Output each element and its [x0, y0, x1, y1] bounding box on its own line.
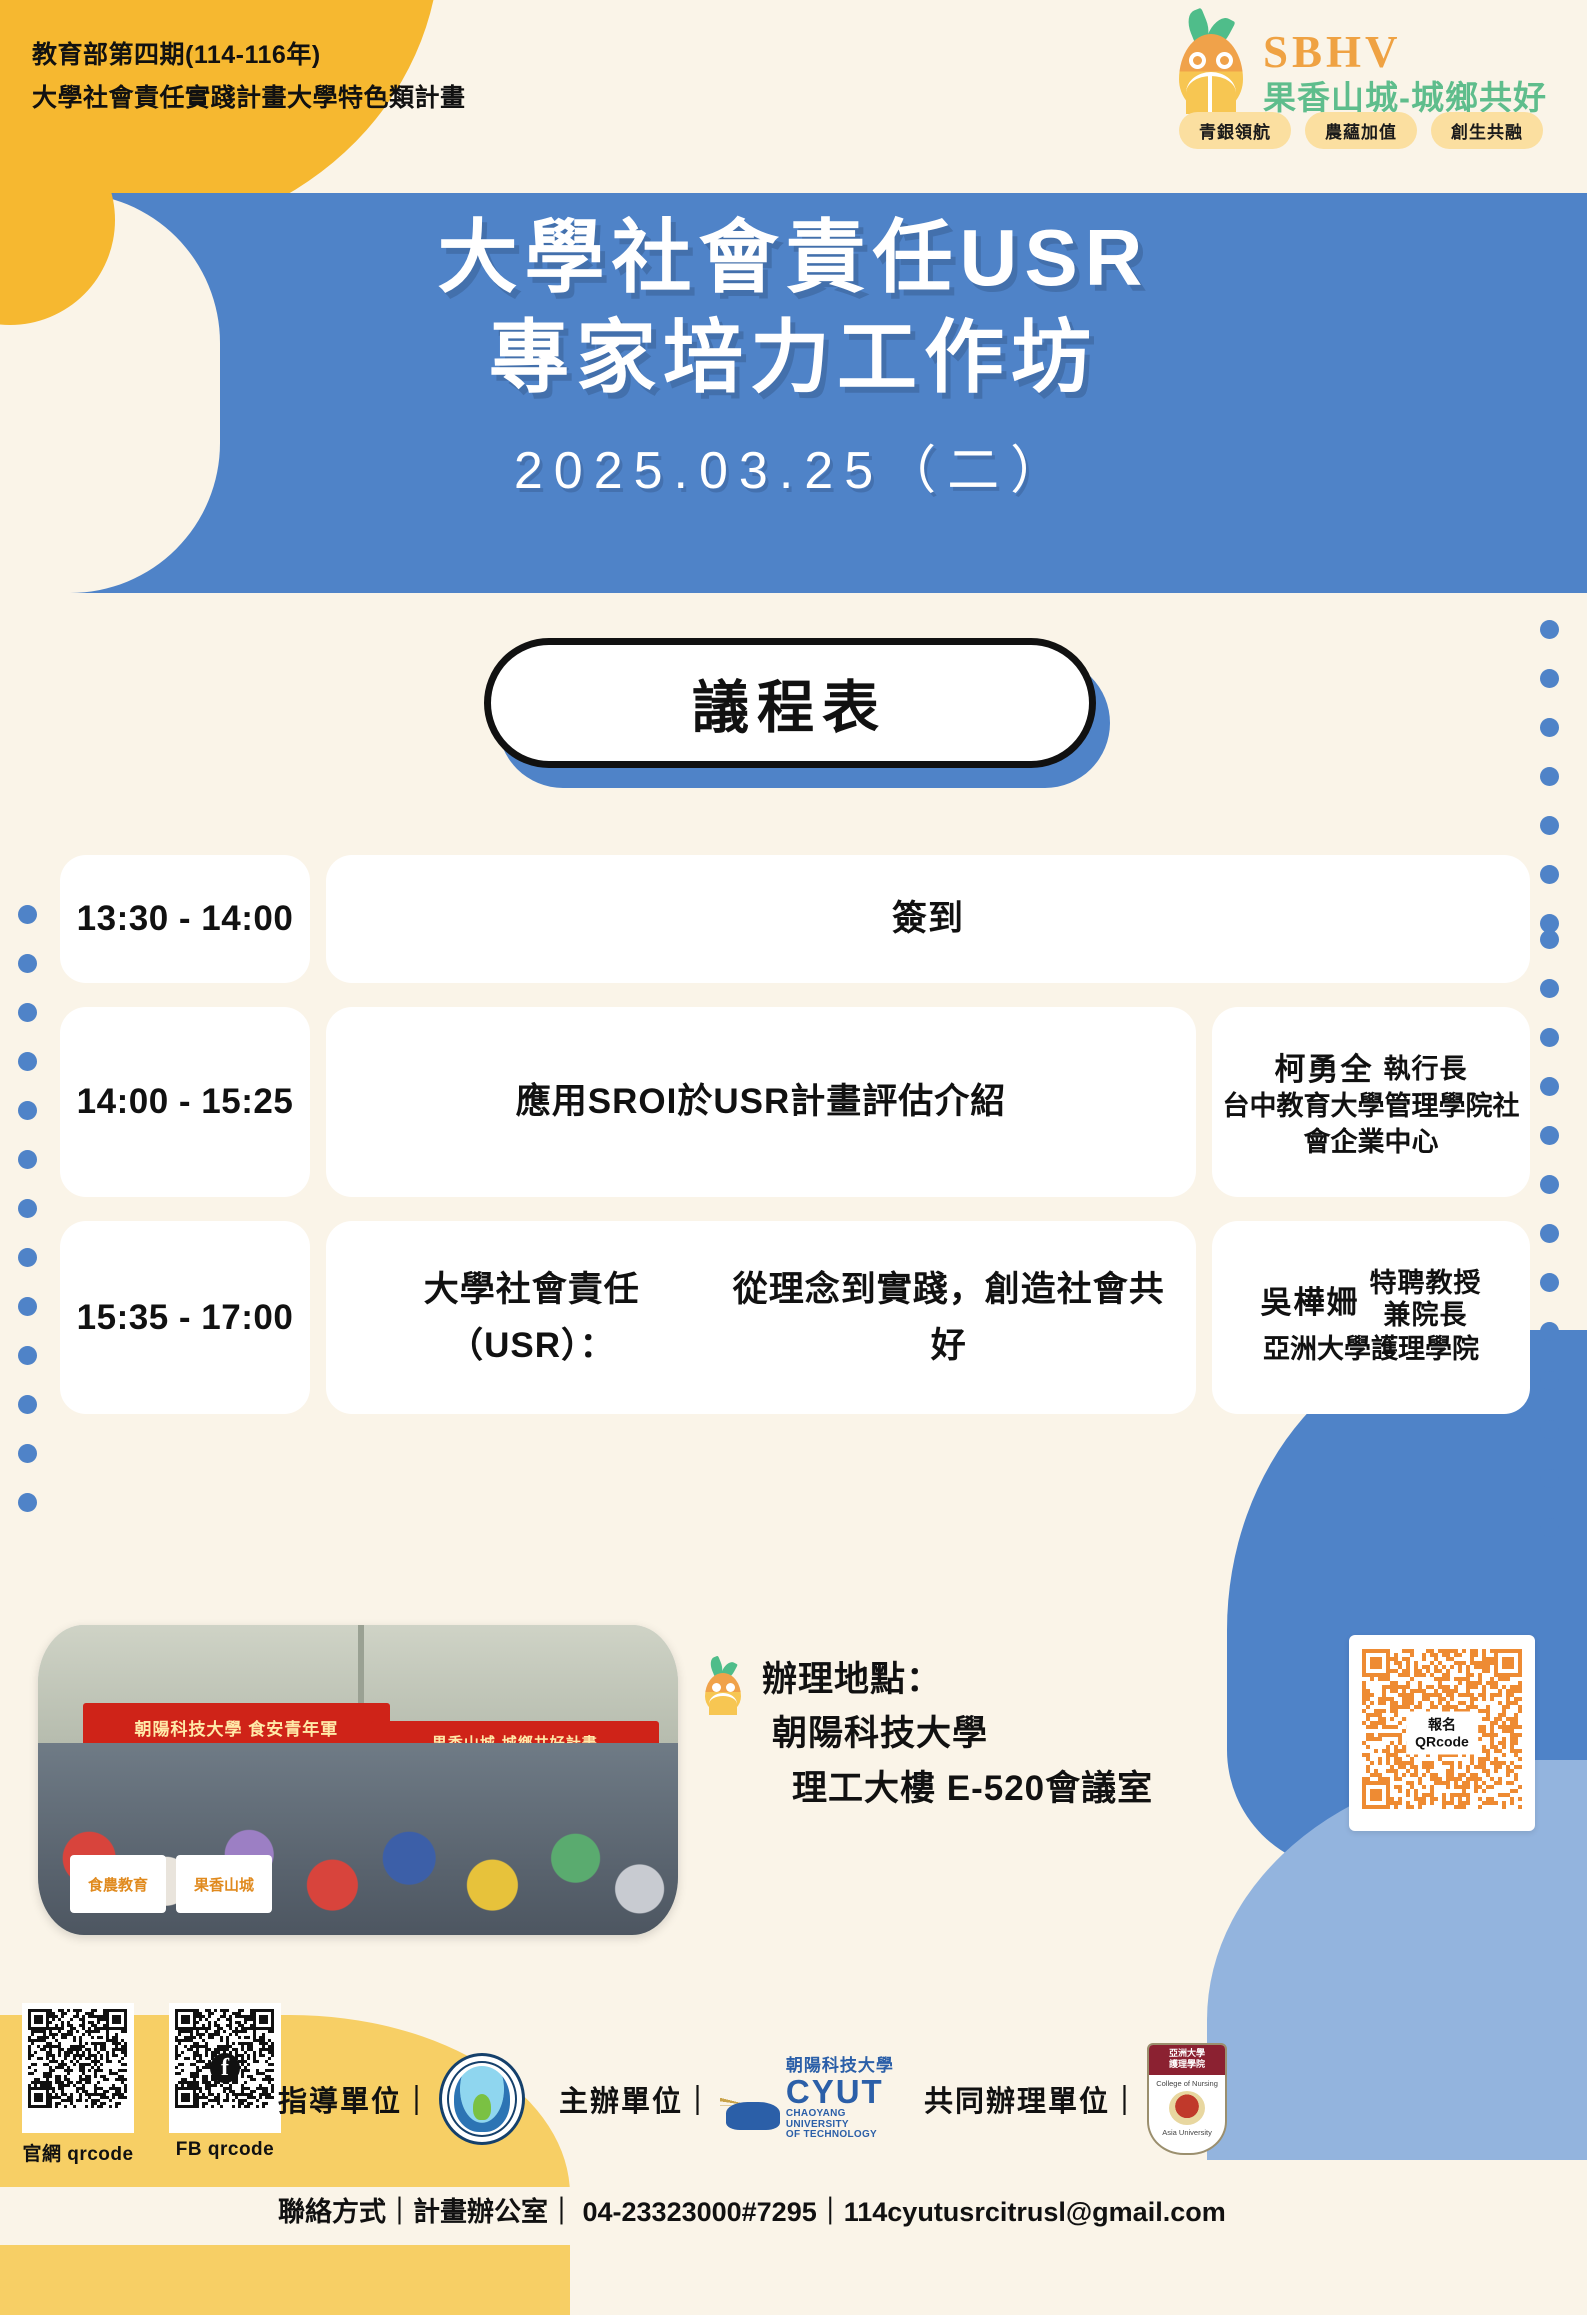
facebook-icon: f — [210, 2053, 240, 2083]
program-identification: 教育部第四期(114-116年) 大學社會責任實踐計畫大學特色類計畫 — [32, 34, 466, 120]
facebook-qr-icon[interactable]: f — [169, 2003, 281, 2133]
event-title-line-1: 大學社會責任USR — [0, 193, 1587, 301]
decor-dot — [1540, 1518, 1559, 1537]
program-line-2: 大學社會責任實踐計畫大學特色類計畫 — [32, 77, 466, 120]
organizer-row: 指導單位｜ 主辦單位｜ 朝陽科技大學 CYUT CHAOYANG UNIVERS… — [278, 2043, 1227, 2155]
venue-text-block: 辦理地點： 朝陽科技大學 理工大樓 E-520會議室 — [762, 1653, 1153, 1816]
speaker-name-row: 吳樺姍 特聘教授 兼院長 — [1261, 1268, 1482, 1332]
agenda-heading: 議程表 — [0, 638, 1587, 778]
event-date: 2025.03.25（二） — [0, 428, 1587, 503]
cyut-sub-1: CHAOYANG UNIVERSITY — [786, 2109, 900, 2130]
speaker-name-row: 柯勇全 執行長 — [1275, 1044, 1468, 1089]
agenda-time-text: 13:30 - 14:00 — [77, 899, 294, 939]
decor-dot — [1540, 865, 1559, 884]
agenda-speaker-cell: 吳樺姍 特聘教授 兼院長 亞洲大學護理學院 — [1212, 1221, 1530, 1414]
program-line-1: 教育部第四期(114-116年) — [32, 34, 466, 77]
website-qrcode[interactable]: 官網 qrcode — [22, 2003, 134, 2166]
speaker-title-stack: 特聘教授 兼院長 — [1370, 1268, 1482, 1332]
decor-dot — [1540, 1077, 1559, 1096]
agenda-time-cell: 14:00 - 15:25 — [60, 1007, 310, 1197]
decor-dot — [1540, 620, 1559, 639]
venue-line-2: 理工大樓 E-520會議室 — [762, 1762, 1153, 1816]
decor-dot — [1540, 979, 1559, 998]
website-qrcode-caption: 官網 qrcode — [22, 2139, 134, 2166]
decor-dot — [1540, 1175, 1559, 1194]
registration-qrcode-label: 報名 QRcode — [1406, 1711, 1478, 1754]
asia-university-nursing-logo-icon: 亞洲大學 護理學院 College of Nursing Asia Univer… — [1147, 2043, 1227, 2155]
logo-name-zh: 果香山城-城鄉共好 — [1263, 81, 1547, 114]
decor-dot — [1540, 1273, 1559, 1292]
photo-signs: 食農教育 果香山城 — [70, 1855, 272, 1913]
facebook-qrcode-caption: FB qrcode — [169, 2139, 281, 2161]
agenda-pill-face: 議程表 — [484, 638, 1096, 768]
decor-dot — [18, 1395, 37, 1414]
speaker-title-line-1: 特聘教授 — [1370, 1268, 1482, 1300]
decor-dot — [1540, 1420, 1559, 1439]
venue-section: 朝陽科技大學 食安青年軍 果香山城-城鄉共好計畫 食農教育 果香山城 辦理地點：… — [0, 1625, 1587, 1965]
agenda-table: 13:30 - 14:00 簽到 14:00 - 15:25 應用SROI於US… — [60, 855, 1530, 1438]
theme-badge-1: 青銀領航 — [1179, 112, 1291, 149]
advisor-label: 指導單位｜ — [278, 2078, 433, 2120]
agenda-pill-label: 議程表 — [692, 662, 887, 744]
speaker-name: 吳樺姍 — [1261, 1277, 1360, 1322]
logo-name-en: SBHV — [1263, 30, 1547, 75]
asia-university-en: Asia University — [1149, 2128, 1225, 2137]
agenda-time-cell: 13:30 - 14:00 — [60, 855, 310, 983]
venue-label: 辦理地點： — [762, 1653, 1153, 1707]
asia-top-line-2: 護理學院 — [1149, 2059, 1225, 2070]
qr-label-line-1: 報名 — [1415, 1716, 1469, 1733]
ministry-of-education-logo-icon — [439, 2053, 525, 2145]
facebook-qrcode[interactable]: f FB qrcode — [169, 2003, 281, 2166]
speaker-organization: 亞洲大學護理學院 — [1263, 1332, 1479, 1367]
decor-dot — [1540, 1322, 1559, 1341]
decor-dot — [18, 1346, 37, 1365]
decor-dot — [18, 1297, 37, 1316]
poster-footer: 官網 qrcode f FB qrcode 指導單位｜ 主辦單位｜ 朝陽科技大學… — [0, 1985, 1587, 2245]
theme-badge-2: 農蘊加值 — [1305, 112, 1417, 149]
title-banner: 大學社會責任USR 專家培力工作坊 2025.03.25（二） — [0, 193, 1587, 593]
decor-dot — [18, 1444, 37, 1463]
decor-dot-rail-right-bottom — [1540, 930, 1559, 1567]
cyut-logo-icon: 朝陽科技大學 CYUT CHAOYANG UNIVERSITY OF TECHN… — [720, 2054, 900, 2144]
agenda-time-cell: 15:35 - 17:00 — [60, 1221, 310, 1414]
decor-dot — [1540, 1126, 1559, 1145]
decor-dot — [18, 1493, 37, 1512]
asia-college-en: College of Nursing — [1149, 2079, 1225, 2088]
poster-header: 教育部第四期(114-116年) 大學社會責任實踐計畫大學特色類計畫 SBHV … — [0, 0, 1587, 195]
coorganizer-label: 共同辦理單位｜ — [924, 2078, 1141, 2120]
decor-dot — [1540, 930, 1559, 949]
registration-qrcode-image[interactable]: 報名 QRcode — [1362, 1649, 1522, 1817]
decor-dot — [18, 905, 37, 924]
venue-info: 辦理地點： 朝陽科技大學 理工大樓 E-520會議室 — [700, 1653, 1170, 1816]
registration-qrcode[interactable]: 報名 QRcode — [1349, 1635, 1535, 1831]
decor-dot — [18, 1150, 37, 1169]
agenda-topic-line: 應用SROI於USR計畫評估介紹 — [516, 1074, 1006, 1130]
decor-dot — [18, 1101, 37, 1120]
table-row: 14:00 - 15:25 應用SROI於USR計畫評估介紹 柯勇全 執行長 台… — [60, 1007, 1530, 1197]
table-row: 13:30 - 14:00 簽到 — [60, 855, 1530, 983]
speaker-title-line-2: 兼院長 — [1384, 1300, 1468, 1332]
orange-fruit-mascot-icon — [1169, 8, 1253, 112]
decor-dot — [1540, 1371, 1559, 1390]
sbhv-logo-text: SBHV 果香山城-城鄉共好 — [1263, 8, 1547, 114]
asia-top-line-1: 亞洲大學 — [1149, 2048, 1225, 2059]
photo-sign-1: 食農教育 — [70, 1855, 166, 1913]
speaker-organization: 台中教育大學管理學院社會企業中心 — [1222, 1089, 1520, 1159]
agenda-time-text: 15:35 - 17:00 — [77, 1298, 294, 1338]
agenda-topic-line: 從理念到實踐，創造社會共好 — [720, 1262, 1178, 1374]
decor-dot — [18, 1199, 37, 1218]
agenda-topic-cell: 大學社會責任（USR）： 從理念到實踐，創造社會共好 — [326, 1221, 1196, 1414]
asia-crest-icon — [1169, 2091, 1205, 2125]
decor-dot — [18, 1248, 37, 1267]
decor-dot — [18, 1003, 37, 1022]
event-title-line-2: 專家培力工作坊 — [0, 301, 1587, 401]
theme-badge-3: 創生共融 — [1431, 112, 1543, 149]
cyut-name-en: CYUT — [786, 2075, 900, 2110]
qr-label-line-2: QRcode — [1415, 1733, 1469, 1750]
theme-badge-group: 青銀領航 農蘊加值 創生共融 — [1179, 112, 1543, 149]
decor-dot — [1540, 1028, 1559, 1047]
sbhv-logo: SBHV 果香山城-城鄉共好 — [1169, 8, 1547, 114]
decor-dot — [1540, 816, 1559, 835]
agenda-topic-line: 簽到 — [892, 891, 964, 947]
orange-fruit-mascot-icon — [700, 1657, 746, 1713]
venue-line-1: 朝陽科技大學 — [762, 1707, 1153, 1761]
agenda-topic-cell: 應用SROI於USR計畫評估介紹 — [326, 1007, 1196, 1197]
host-label: 主辦單位｜ — [559, 2078, 714, 2120]
agenda-topic-cell: 簽到 — [326, 855, 1530, 983]
cyut-sub-2: OF TECHNOLOGY — [786, 2130, 900, 2141]
decor-dot — [1540, 1224, 1559, 1243]
decor-dot — [18, 1052, 37, 1071]
footer-qrcode-group: 官網 qrcode f FB qrcode — [22, 2003, 281, 2166]
event-group-photo: 朝陽科技大學 食安青年軍 果香山城-城鄉共好計畫 食農教育 果香山城 — [38, 1625, 678, 1935]
agenda-time-text: 14:00 - 15:25 — [77, 1082, 294, 1122]
contact-line: 聯絡方式｜計畫辦公室｜ 04-23323000#7295｜114cyutusrc… — [278, 2190, 1226, 2229]
decor-dot — [1540, 1469, 1559, 1488]
speaker-title: 執行長 — [1384, 1047, 1468, 1086]
agenda-topic-line: 大學社會責任（USR）： — [344, 1262, 720, 1374]
decor-dot — [18, 954, 37, 973]
table-row: 15:35 - 17:00 大學社會責任（USR）： 從理念到實踐，創造社會共好… — [60, 1221, 1530, 1414]
speaker-name: 柯勇全 — [1275, 1044, 1374, 1089]
photo-sign-2: 果香山城 — [176, 1855, 272, 1913]
website-qr-icon[interactable] — [22, 2003, 134, 2133]
agenda-speaker-cell: 柯勇全 執行長 台中教育大學管理學院社會企業中心 — [1212, 1007, 1530, 1197]
decor-dot-rail-left — [18, 905, 37, 1542]
